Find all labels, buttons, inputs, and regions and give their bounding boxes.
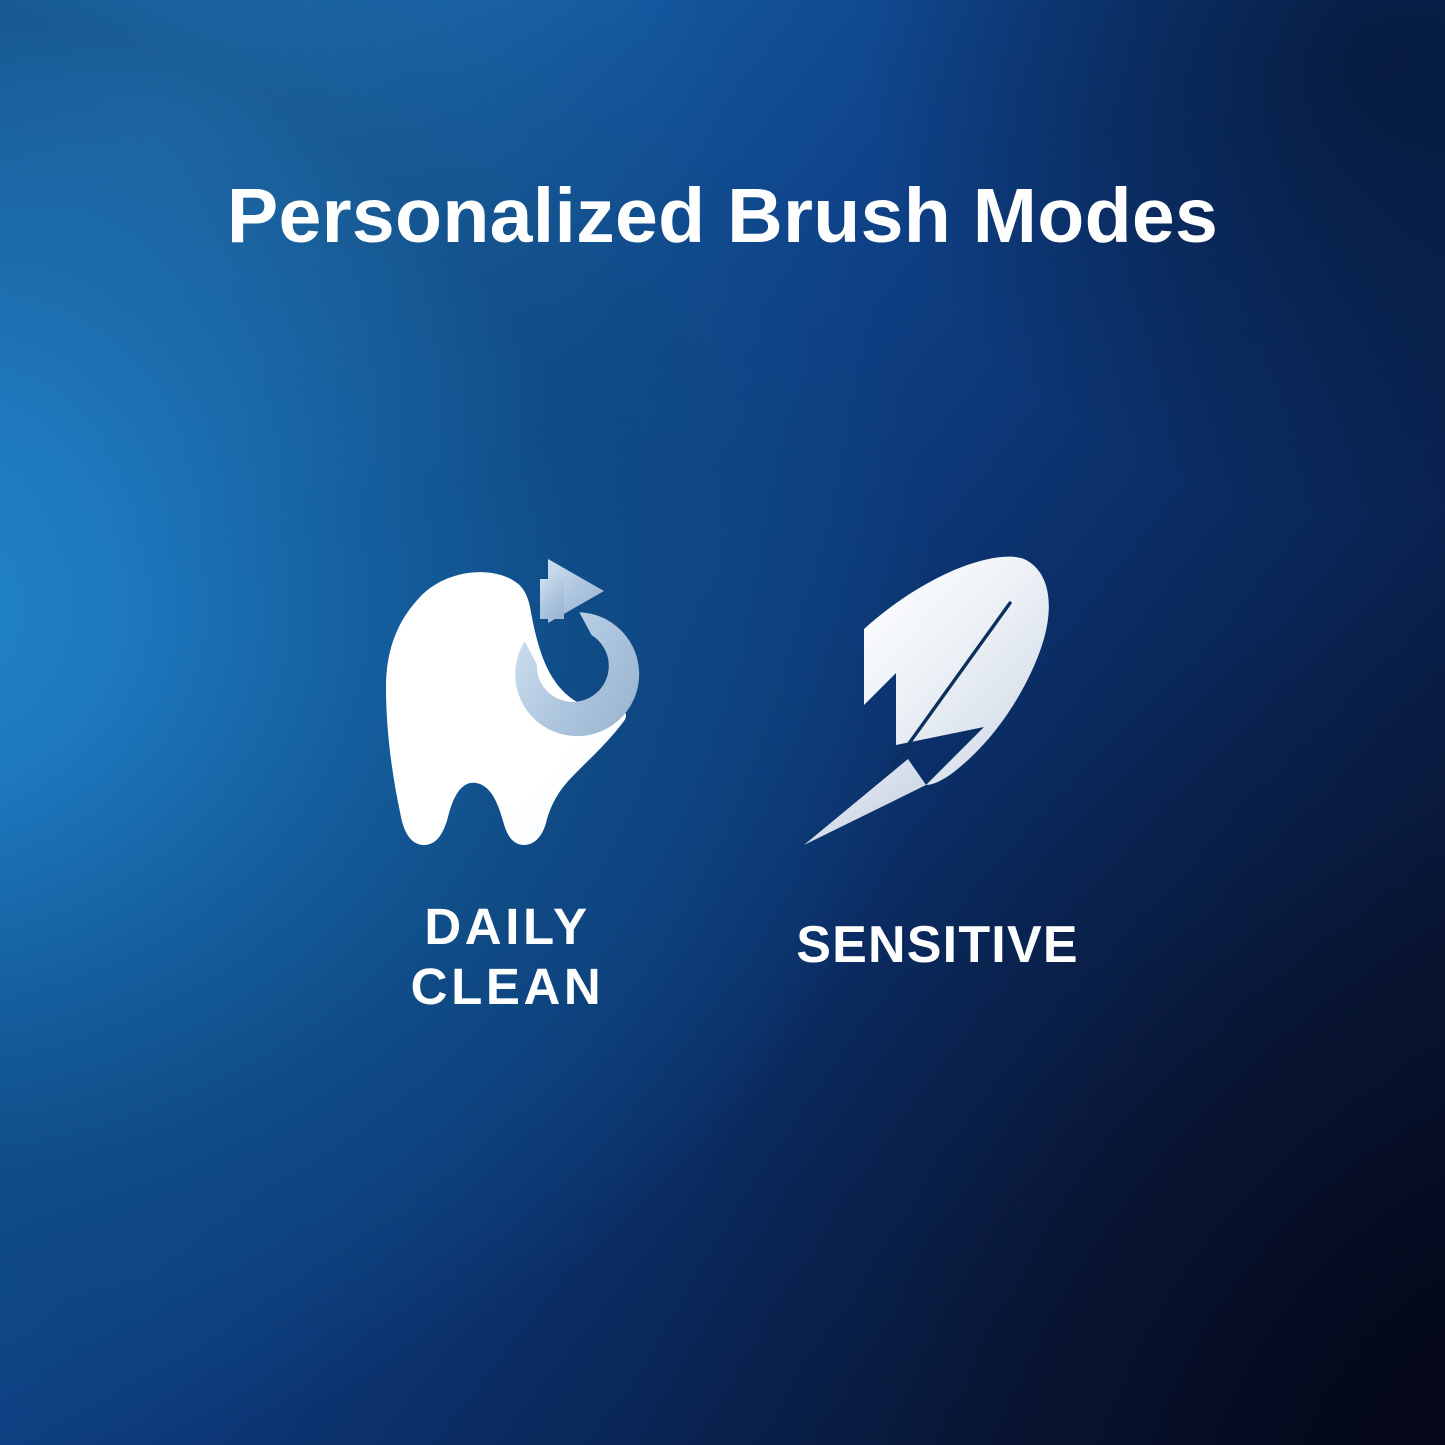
page-title: Personalized Brush Modes (0, 178, 1445, 255)
feather-icon (773, 545, 1103, 865)
mode-daily-clean[interactable]: DAILY CLEAN (293, 545, 723, 1017)
mode-label-sensitive: SENSITIVE (796, 915, 1078, 976)
tooth-refresh-icon (343, 545, 673, 865)
feather-vane (864, 557, 1049, 785)
feather-quill (804, 759, 926, 845)
mode-sensitive[interactable]: SENSITIVE (723, 545, 1153, 976)
promo-canvas: Personalized Brush Modes (0, 0, 1445, 1445)
mode-label-daily-clean: DAILY CLEAN (411, 897, 605, 1017)
brush-modes-row: DAILY CLEAN (0, 545, 1445, 1015)
